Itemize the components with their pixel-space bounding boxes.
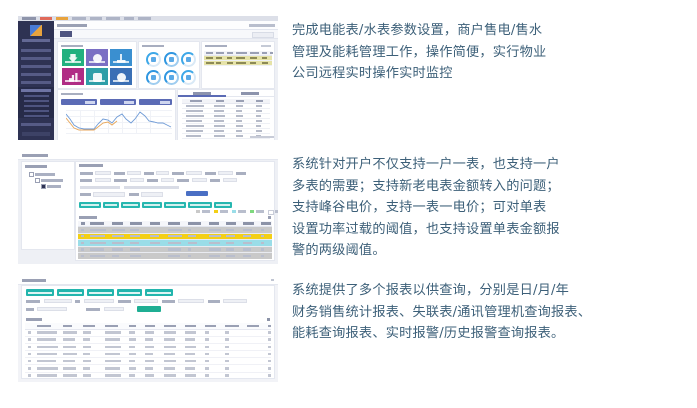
tab-energy-report[interactable] bbox=[117, 289, 142, 296]
filter-label bbox=[147, 179, 158, 182]
filter-label bbox=[118, 300, 131, 303]
quick-actions-card bbox=[57, 41, 137, 89]
toolbar-button-3[interactable] bbox=[121, 202, 140, 208]
toolbar-button-6[interactable] bbox=[188, 202, 212, 208]
search-input[interactable] bbox=[93, 192, 125, 197]
query-button[interactable] bbox=[186, 191, 208, 196]
gauge-6 bbox=[181, 70, 196, 85]
sidebar-item-4[interactable] bbox=[21, 73, 51, 76]
card-more-link[interactable] bbox=[261, 45, 271, 48]
topbar-user-area[interactable] bbox=[249, 24, 275, 27]
tree-panel-title bbox=[25, 165, 47, 168]
browser-tab bbox=[90, 17, 102, 20]
table-row[interactable] bbox=[25, 365, 271, 372]
meter-data-grid[interactable] bbox=[78, 221, 272, 259]
gauge-3 bbox=[181, 52, 196, 67]
card-title bbox=[61, 45, 83, 48]
filter-label bbox=[86, 308, 100, 311]
sidebar-subitem-3[interactable] bbox=[24, 105, 49, 107]
dashboard-main bbox=[54, 21, 278, 140]
tree-expand-icon[interactable] bbox=[29, 172, 34, 177]
status-legend bbox=[196, 210, 271, 213]
browser-tab bbox=[40, 17, 52, 20]
table-row[interactable] bbox=[78, 227, 272, 234]
chart-filter-row[interactable] bbox=[61, 99, 172, 107]
table-settings-icon[interactable] bbox=[268, 216, 271, 219]
search-input-2[interactable] bbox=[141, 192, 163, 197]
tile-blue[interactable] bbox=[110, 49, 132, 66]
ranking-table bbox=[182, 99, 270, 139]
query-button[interactable] bbox=[137, 306, 161, 312]
filter-input[interactable] bbox=[156, 171, 169, 175]
chart-filter-1[interactable] bbox=[61, 99, 97, 105]
tab-yearly-report[interactable] bbox=[87, 289, 114, 296]
sidebar-expanded-group[interactable] bbox=[18, 87, 54, 118]
toolbar-button-2[interactable] bbox=[103, 202, 119, 208]
tree-expand-icon[interactable] bbox=[35, 178, 40, 183]
report-main-panel bbox=[21, 285, 275, 379]
card-title bbox=[142, 45, 164, 48]
table-row[interactable] bbox=[25, 330, 271, 337]
meter-main-panel bbox=[75, 161, 275, 261]
gauge-1 bbox=[146, 52, 161, 67]
filter-input[interactable] bbox=[223, 299, 247, 303]
filter-input[interactable] bbox=[218, 171, 233, 175]
tile-label bbox=[113, 80, 129, 82]
alarm-table-card bbox=[201, 41, 275, 89]
browser-tab bbox=[56, 17, 68, 20]
dashboard-footer bbox=[250, 136, 274, 138]
tile-label bbox=[65, 80, 81, 82]
filter-input[interactable] bbox=[130, 178, 144, 182]
sidebar-item-6[interactable] bbox=[21, 123, 51, 126]
tree-collapse-icon[interactable] bbox=[41, 184, 46, 189]
filter-input[interactable] bbox=[186, 171, 202, 175]
filter-label bbox=[114, 179, 127, 182]
toolbar-button-1[interactable] bbox=[79, 202, 101, 208]
report-table-screenshot[interactable] bbox=[18, 276, 278, 382]
table-row[interactable] bbox=[78, 247, 272, 254]
card-title bbox=[61, 93, 83, 96]
breadcrumb bbox=[57, 24, 87, 27]
list-title bbox=[79, 216, 97, 219]
page-title bbox=[22, 279, 46, 282]
table-row[interactable] bbox=[25, 344, 271, 351]
filter-input[interactable] bbox=[84, 299, 114, 303]
card-title bbox=[205, 45, 227, 48]
filter-input[interactable] bbox=[127, 171, 141, 175]
tile-magenta[interactable] bbox=[62, 68, 84, 85]
filter-input[interactable] bbox=[104, 307, 124, 311]
filter-input[interactable] bbox=[161, 178, 174, 182]
description-reports: 系统提供了多个报表以供查询，分别是日/月/年 财务销售统计报表、失联表/通讯管理… bbox=[292, 280, 692, 345]
tree-node-leaf[interactable] bbox=[47, 185, 61, 188]
filter-label bbox=[208, 300, 220, 303]
filter-input[interactable] bbox=[95, 171, 111, 175]
table-row[interactable] bbox=[78, 234, 272, 241]
tab-refresh-button[interactable] bbox=[252, 32, 274, 38]
close-icon[interactable] bbox=[271, 279, 274, 281]
filter-input[interactable] bbox=[192, 178, 207, 182]
filter-label bbox=[162, 300, 175, 303]
table-row[interactable] bbox=[25, 337, 271, 344]
tile-purple[interactable] bbox=[86, 49, 108, 66]
tree-node-root[interactable] bbox=[35, 173, 55, 176]
filter-label bbox=[75, 300, 80, 303]
description-account-meter-support: 系统针对开户不仅支持一户一表，也支持一户 多表的需要；支持新老电表金额转入的问题… bbox=[292, 154, 692, 262]
table-row[interactable] bbox=[204, 61, 272, 66]
sidebar-subitem-5[interactable] bbox=[24, 115, 49, 117]
dashboard-topbar bbox=[54, 21, 278, 30]
filter-label bbox=[80, 172, 93, 175]
gauge-4 bbox=[146, 70, 161, 85]
tree-node-child[interactable] bbox=[41, 179, 63, 182]
gauge-5 bbox=[164, 70, 179, 85]
table-row[interactable] bbox=[25, 351, 271, 358]
tile-teal[interactable] bbox=[86, 68, 108, 85]
filter-label bbox=[172, 172, 184, 175]
filter-input[interactable] bbox=[178, 299, 204, 303]
filter-label bbox=[144, 172, 154, 175]
app-logo-icon bbox=[30, 25, 42, 36]
filter-input[interactable] bbox=[44, 299, 72, 303]
tab-daily-report[interactable] bbox=[26, 289, 54, 296]
page-root: 完成电能表/水表参数设置，商户售电/售水 管理及能耗管理工作，操作简便，实行物业… bbox=[0, 0, 697, 408]
filter-label bbox=[80, 193, 91, 196]
tab-alarm-report[interactable] bbox=[145, 289, 173, 296]
filter-label bbox=[205, 172, 216, 175]
table-row[interactable] bbox=[78, 253, 272, 259]
tab-monthly-report[interactable] bbox=[57, 289, 84, 296]
description-energy-meter-settings: 完成电能表/水表参数设置，商户售电/售水 管理及能耗管理工作，操作简便，实行物业… bbox=[292, 20, 692, 85]
sidebar-item-3[interactable] bbox=[21, 65, 51, 68]
alarm-mini-table bbox=[204, 51, 272, 66]
filter-label bbox=[210, 179, 220, 182]
report-data-grid[interactable] bbox=[25, 323, 271, 377]
tile-label bbox=[89, 61, 105, 63]
filter-label bbox=[80, 179, 92, 182]
table-settings-icon[interactable] bbox=[267, 318, 270, 321]
chart-filter-2[interactable] bbox=[100, 99, 136, 105]
tab-ranking-a[interactable] bbox=[178, 90, 226, 97]
filter-label bbox=[129, 193, 139, 196]
trend-plot bbox=[66, 110, 172, 134]
browser-tab bbox=[124, 17, 134, 20]
dashboard-screenshot[interactable] bbox=[18, 16, 278, 140]
trend-chart-card bbox=[57, 89, 176, 140]
browser-tab bbox=[106, 17, 120, 20]
filter-label bbox=[114, 172, 125, 175]
filter-input[interactable] bbox=[223, 178, 237, 182]
sidebar-app-title bbox=[22, 39, 50, 42]
toolbar-button-5[interactable] bbox=[164, 202, 186, 208]
tile-label bbox=[113, 61, 129, 63]
filter-label bbox=[26, 300, 40, 303]
sidebar-footer-icons[interactable] bbox=[22, 132, 50, 136]
filter-input[interactable] bbox=[95, 178, 111, 182]
tile-green[interactable] bbox=[62, 49, 84, 66]
trend-lines bbox=[66, 110, 172, 134]
tile-label bbox=[89, 80, 105, 82]
filter-input[interactable] bbox=[134, 299, 158, 303]
panel-title bbox=[79, 164, 103, 167]
chart-filter-3[interactable] bbox=[139, 99, 172, 105]
report-page-header bbox=[18, 276, 278, 285]
sidebar-subitem-4[interactable] bbox=[24, 110, 49, 112]
tile-navy[interactable] bbox=[110, 68, 132, 85]
building-tree-panel[interactable] bbox=[21, 161, 75, 250]
toolbar-button-4[interactable] bbox=[142, 202, 162, 208]
toolbar-button-7[interactable] bbox=[214, 202, 232, 208]
sidebar-subitem-2[interactable] bbox=[24, 100, 49, 102]
browser-tab bbox=[22, 17, 36, 20]
ranking-tabs[interactable] bbox=[178, 90, 274, 97]
tile-label bbox=[65, 61, 81, 63]
dashboard-sidebar[interactable] bbox=[18, 21, 54, 140]
filter-hint bbox=[124, 186, 179, 189]
filter-label bbox=[26, 308, 34, 311]
tab-home[interactable] bbox=[60, 31, 72, 37]
tab-ranking-b[interactable] bbox=[226, 90, 274, 97]
filter-hint bbox=[80, 186, 120, 189]
table-row[interactable] bbox=[25, 373, 271, 377]
sidebar-item-5[interactable] bbox=[21, 81, 51, 84]
meter-page-header bbox=[18, 151, 278, 160]
gauge-2 bbox=[164, 52, 179, 67]
ranking-card bbox=[177, 89, 275, 140]
filter-label bbox=[177, 179, 189, 182]
filter-input[interactable] bbox=[37, 307, 67, 311]
gauges-card bbox=[138, 41, 200, 89]
sidebar-group-header[interactable] bbox=[21, 89, 51, 92]
table-row[interactable] bbox=[78, 240, 272, 247]
dashboard-tabbar[interactable] bbox=[54, 30, 278, 39]
sidebar-item-1[interactable] bbox=[21, 49, 51, 52]
browser-tab bbox=[138, 17, 151, 20]
sidebar-subitem-1[interactable] bbox=[24, 95, 49, 97]
browser-tab bbox=[72, 17, 86, 20]
sidebar-item-2[interactable] bbox=[21, 57, 51, 60]
filter-label bbox=[236, 172, 246, 175]
meter-table-screenshot[interactable] bbox=[18, 151, 278, 264]
page-title bbox=[22, 154, 48, 157]
table-row[interactable] bbox=[25, 358, 271, 365]
list-title bbox=[26, 318, 42, 321]
